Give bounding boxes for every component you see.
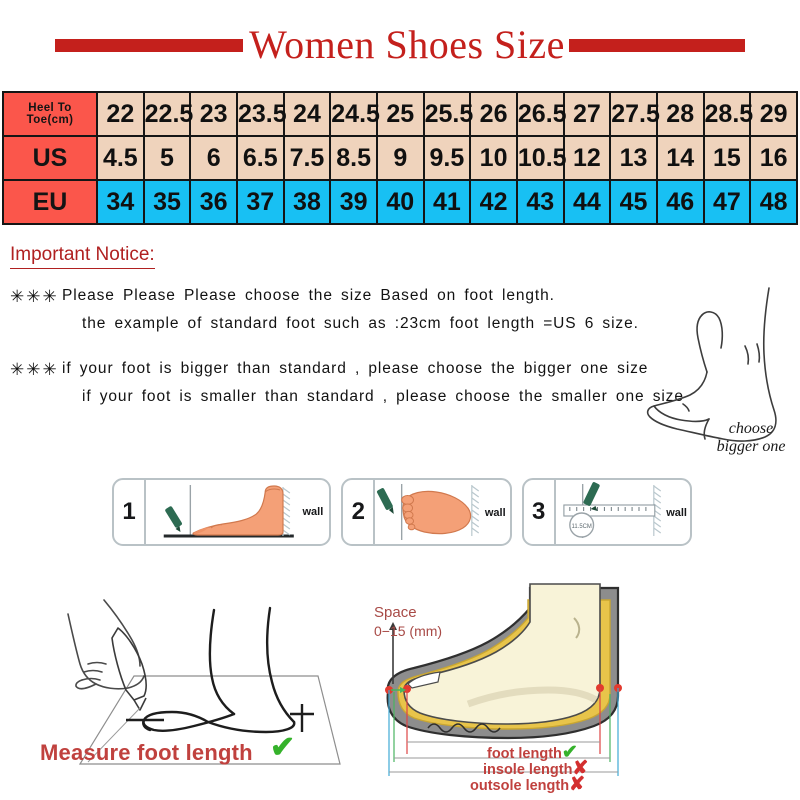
notice-heading: Important Notice:: [10, 244, 155, 269]
cell-us: 7.5: [284, 136, 331, 180]
wall-label-3: wall: [666, 507, 687, 519]
notice-line: the example of standard foot such as :23…: [62, 313, 690, 335]
bullet-marker: ✳✳✳: [10, 358, 62, 383]
cell-eu: 43: [517, 180, 564, 224]
table-row-us: US 4.5 5 6 6.5 7.5 8.5 9 9.5 10 10.5 12 …: [3, 136, 797, 180]
cell-cm: 24.5: [330, 92, 377, 136]
measurement-steps: 1 wall: [112, 478, 692, 546]
cell-us: 6: [190, 136, 237, 180]
caption-line-1: choose: [696, 420, 800, 438]
step-1-illustration: wall: [146, 480, 329, 544]
notice-line: if your foot is bigger than standard , p…: [62, 358, 690, 380]
step-number-2: 2: [343, 480, 375, 544]
green-check-icon: ✔: [270, 733, 295, 763]
step-panel-1: 1 wall: [112, 478, 331, 546]
bullet-text: Please Please Please choose the size Bas…: [62, 285, 690, 342]
cell-cm: 27: [564, 92, 611, 136]
cell-us: 16: [750, 136, 797, 180]
cell-us: 15: [704, 136, 751, 180]
cell-eu: 40: [377, 180, 424, 224]
cell-us: 6.5: [237, 136, 284, 180]
row-header-eu: EU: [3, 180, 97, 224]
cell-eu: 42: [470, 180, 517, 224]
cell-eu: 47: [704, 180, 751, 224]
notice-line: if your foot is smaller than standard , …: [62, 386, 690, 408]
title-bar: Women Shoes Size: [0, 16, 800, 74]
table-row-eu: EU 34 35 36 37 38 39 40 41 42 43 44 45 4…: [3, 180, 797, 224]
cell-us: 10.5: [517, 136, 564, 180]
cell-eu: 35: [144, 180, 191, 224]
cell-us: 10: [470, 136, 517, 180]
cell-eu: 39: [330, 180, 377, 224]
cell-eu: 41: [424, 180, 471, 224]
cell-cm: 24: [284, 92, 331, 136]
bullet-marker: ✳✳✳: [10, 285, 62, 310]
cell-cm: 26.5: [517, 92, 564, 136]
cell-eu: 34: [97, 180, 144, 224]
notice-line: Please Please Please choose the size Bas…: [62, 285, 690, 307]
cell-eu: 44: [564, 180, 611, 224]
cell-eu: 48: [750, 180, 797, 224]
step-panel-3: 3: [522, 478, 692, 546]
cell-us: 14: [657, 136, 704, 180]
space-label-line-2: 0−15 (mm): [374, 623, 442, 641]
step-2-illustration: wall: [375, 480, 509, 544]
cross-icon: ✘: [569, 774, 585, 795]
cell-cm: 25.5: [424, 92, 471, 136]
cell-cm: 22: [97, 92, 144, 136]
caption-line-2: bigger one: [696, 438, 800, 456]
wall-label-2: wall: [485, 507, 506, 519]
cell-eu: 45: [610, 180, 657, 224]
cell-cm: 26: [470, 92, 517, 136]
step-3-illustration: 11.5CM wall: [556, 480, 690, 544]
row-header-heel-to-toe: Heel To Toe(cm): [3, 92, 97, 136]
cell-eu: 46: [657, 180, 704, 224]
step-number-3: 3: [524, 480, 556, 544]
cell-us: 5: [144, 136, 191, 180]
important-notice-block: Important Notice: ✳✳✳ Please Please Plea…: [10, 244, 690, 415]
cell-us: 8.5: [330, 136, 377, 180]
cell-cm: 28: [657, 92, 704, 136]
title-rule-left: [55, 39, 243, 52]
cell-cm: 23: [190, 92, 237, 136]
notice-bullet-1: ✳✳✳ Please Please Please choose the size…: [10, 285, 690, 342]
space-label-line-1: Space: [374, 604, 442, 623]
step-panel-2: 2: [341, 478, 511, 546]
bullet-text: if your foot is bigger than standard , p…: [62, 358, 690, 415]
legend-outsole-label: outsole length: [470, 778, 569, 794]
measure-foot-length-caption: Measure foot length: [40, 740, 253, 766]
table-row-heel-to-toe: Heel To Toe(cm) 22 22.5 23 23.5 24 24.5 …: [3, 92, 797, 136]
cell-cm: 22.5: [144, 92, 191, 136]
cell-cm: 27.5: [610, 92, 657, 136]
step-number-1: 1: [114, 480, 146, 544]
cell-us: 13: [610, 136, 657, 180]
cell-cm: 28.5: [704, 92, 751, 136]
cell-us: 12: [564, 136, 611, 180]
cell-cm: 29: [750, 92, 797, 136]
cell-eu: 37: [237, 180, 284, 224]
svg-text:11.5CM: 11.5CM: [571, 524, 591, 530]
notice-bullet-2: ✳✳✳ if your foot is bigger than standard…: [10, 358, 690, 415]
cell-us: 4.5: [97, 136, 144, 180]
cell-eu: 38: [284, 180, 331, 224]
space-tolerance-label: Space 0−15 (mm): [374, 604, 442, 640]
cell-cm: 23.5: [237, 92, 284, 136]
page-title: Women Shoes Size: [249, 25, 565, 65]
legend-outsole-length: outsole length✘: [470, 773, 585, 796]
wall-label-1: wall: [302, 506, 323, 518]
cell-us: 9.5: [424, 136, 471, 180]
cell-us: 9: [377, 136, 424, 180]
row-header-us: US: [3, 136, 97, 180]
cell-eu: 36: [190, 180, 237, 224]
cell-cm: 25: [377, 92, 424, 136]
size-chart-table: Heel To Toe(cm) 22 22.5 23 23.5 24 24.5 …: [2, 91, 798, 225]
title-rule-right: [569, 39, 745, 52]
choose-bigger-one-caption: choose bigger one: [696, 420, 800, 456]
